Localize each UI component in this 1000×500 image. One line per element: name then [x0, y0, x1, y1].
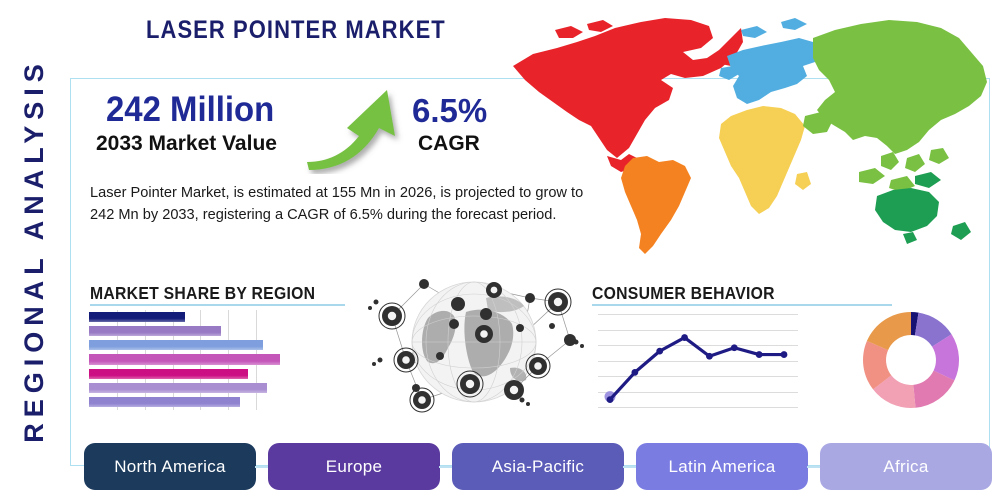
market-share-heading: MARKET SHARE BY REGION	[90, 283, 315, 304]
infographic-root: REGIONAL ANALYSIS LASER POINTER MARKET 2…	[0, 0, 1000, 500]
pill-connector	[439, 466, 453, 468]
region-donut-chart	[860, 309, 962, 411]
kpi-row: 242 Million 2033 Market Value 6.5% CAGR	[88, 92, 508, 172]
line-point-3	[656, 348, 663, 355]
region-pill-north-america[interactable]: North America	[84, 443, 256, 490]
market-value-caption: 2033 Market Value	[96, 132, 277, 156]
pill-connector	[807, 466, 821, 468]
pill-connector	[255, 466, 269, 468]
region-pill-latin-america[interactable]: Latin America	[636, 443, 808, 490]
bar-1	[89, 312, 185, 322]
cagr-number: 6.5%	[412, 92, 487, 130]
region-pill-asia-pacific[interactable]: Asia-Pacific	[452, 443, 624, 490]
pill-connector	[623, 466, 637, 468]
line-point-2	[631, 369, 638, 376]
bar-5	[89, 369, 248, 379]
line-point-6	[731, 344, 738, 351]
line-chart-series	[598, 308, 798, 413]
region-pill-europe[interactable]: Europe	[268, 443, 440, 490]
vertical-section-label: REGIONAL ANALYSIS	[6, 0, 62, 500]
growth-arrow-icon	[303, 84, 413, 174]
vertical-section-label-text: REGIONAL ANALYSIS	[19, 58, 50, 443]
region-pill-row: North AmericaEuropeAsia-PacificLatin Ame…	[84, 443, 992, 491]
world-map-icon	[495, 8, 1000, 273]
line-point-5	[706, 353, 713, 360]
bar-4	[89, 354, 280, 364]
line-point-4	[681, 334, 688, 341]
consumer-behavior-heading: CONSUMER BEHAVIOR	[592, 283, 775, 304]
bar-2	[89, 326, 221, 336]
line-point-8	[781, 351, 788, 358]
market-share-bar-chart	[89, 310, 284, 410]
global-network-globe-icon	[362, 268, 587, 423]
market-share-heading-rule	[90, 304, 345, 306]
cagr-caption: CAGR	[418, 132, 480, 156]
page-title: LASER POINTER MARKET	[146, 16, 446, 45]
line-path	[610, 338, 784, 400]
region-pill-africa[interactable]: Africa	[820, 443, 992, 490]
consumer-behavior-heading-rule	[592, 304, 892, 306]
market-value-number: 242 Million	[106, 90, 274, 130]
line-point-1	[607, 396, 614, 403]
line-point-7	[756, 351, 763, 358]
bar-3	[89, 340, 263, 350]
bar-7	[89, 397, 240, 407]
consumer-behavior-line-chart	[598, 308, 798, 413]
bar-6	[89, 383, 267, 393]
